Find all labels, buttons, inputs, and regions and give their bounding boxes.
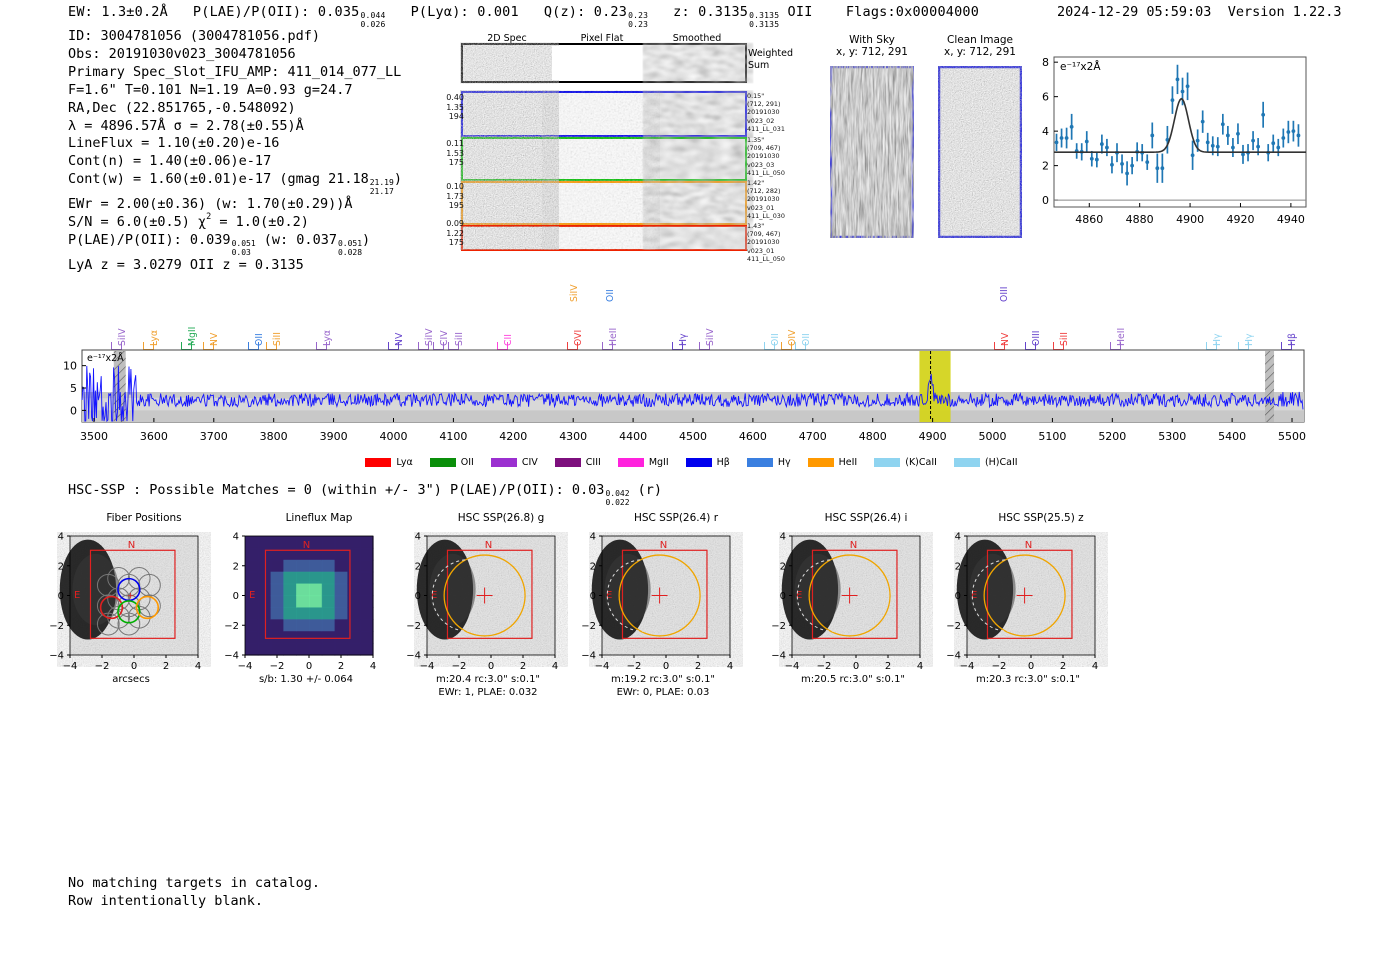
header-timestamp-version: 2024-12-29 05:59:03 Version 1.22.3 <box>1057 4 1342 20</box>
row3-seeing: 1.42" <box>747 179 785 187</box>
row3-amp: 411_LL_030 <box>747 212 785 220</box>
plae-value: 0.035 <box>318 4 360 20</box>
spectrum-units: e⁻¹⁷x2Å <box>87 352 124 364</box>
svg-text:−2: −2 <box>771 621 786 632</box>
row2-val1: 0.11 <box>432 139 464 149</box>
thumbnail-title: HSC SSP(26.8) g <box>425 512 577 524</box>
row4-val1: 0.09 <box>432 219 464 229</box>
svg-text:3800: 3800 <box>260 430 288 443</box>
info-primary-spec: Primary Spec_Slot_IFU_AMP: 411_014_077_L… <box>68 64 402 82</box>
compass-east: E <box>606 590 612 601</box>
legend-item: CIII <box>555 457 601 468</box>
compass-north: N <box>303 540 310 551</box>
row4-xy: (709, 467) <box>747 230 785 238</box>
row1-seeing: 0.15" <box>747 92 785 100</box>
legend-label: MgII <box>649 457 669 468</box>
svg-text:4: 4 <box>233 532 239 543</box>
hsc-summary-filter: (r) <box>638 482 662 498</box>
legend-item: Hγ <box>747 457 791 468</box>
legend-item: (K)CaII <box>874 457 937 468</box>
svg-text:−2: −2 <box>581 621 596 632</box>
thumbnail-caption-2: EWr: 1, PLAE: 0.032 <box>391 686 585 699</box>
compass-east: E <box>971 590 977 601</box>
legend-swatch <box>954 458 980 467</box>
legend-label: OII <box>461 457 474 468</box>
svg-text:2: 2 <box>163 661 169 672</box>
spec2d-row-left-labels-4: 0.09 1.22 175 <box>432 219 464 248</box>
svg-text:4000: 4000 <box>379 430 407 443</box>
row4-visit: v023_01 <box>747 247 785 255</box>
footer-note: No matching targets in catalog. Row inte… <box>68 874 320 910</box>
svg-text:4200: 4200 <box>499 430 527 443</box>
row1-val1: 0.40 <box>432 93 464 103</box>
svg-text:0: 0 <box>1042 194 1049 207</box>
line-profile-units: e⁻¹⁷x2Å <box>1060 60 1101 73</box>
svg-text:4: 4 <box>58 532 64 543</box>
row1-val2: 1.35 <box>432 103 464 113</box>
info-plae: P(LAE)/P(OII): 0.0390.0510.03 (w: 0.0370… <box>68 232 402 257</box>
hsc-summary-text: HSC-SSP : Possible Matches = 0 (within +… <box>68 482 604 498</box>
svg-text:−4: −4 <box>771 651 786 662</box>
svg-text:2: 2 <box>590 561 596 572</box>
svg-text:0: 0 <box>1028 661 1034 672</box>
svg-text:−2: −2 <box>406 621 421 632</box>
spec2d-row-right-labels-3: 1.42" (712, 282) 20191030 v023_01 411_LL… <box>747 179 785 220</box>
z-label: z: <box>673 4 690 20</box>
svg-text:0: 0 <box>590 591 596 602</box>
svg-text:6: 6 <box>1042 91 1049 104</box>
emission-line-label: OIII <box>999 286 1010 302</box>
spec2d-row-left-labels-2: 0.11 1.53 175 <box>432 139 464 168</box>
row1-amp: 411_LL_031 <box>747 125 785 133</box>
svg-text:0: 0 <box>955 591 961 602</box>
legend-item: OII <box>430 457 474 468</box>
svg-text:−2: −2 <box>270 661 285 672</box>
svg-text:−2: −2 <box>817 661 832 672</box>
svg-text:4: 4 <box>727 661 733 672</box>
svg-text:4: 4 <box>370 661 376 672</box>
legend-item: CIV <box>491 457 538 468</box>
line-profile-chart: 02468 48604880490049204940 e⁻¹⁷x2Å <box>1034 52 1314 242</box>
thumbnail-caption-1: m:19.2 rc:3.0" s:0.1" <box>566 673 760 686</box>
compass-east: E <box>796 590 802 601</box>
legend-swatch <box>430 458 456 467</box>
thumbnail-title: HSC SSP(26.4) r <box>600 512 752 524</box>
svg-text:4700: 4700 <box>799 430 827 443</box>
row1-xy: (712, 291) <box>747 100 785 108</box>
svg-text:0: 0 <box>131 661 137 672</box>
svg-text:5100: 5100 <box>1038 430 1066 443</box>
svg-text:0: 0 <box>853 661 859 672</box>
svg-text:2: 2 <box>1042 160 1049 173</box>
svg-text:−2: −2 <box>627 661 642 672</box>
legend-item: HeII <box>808 457 858 468</box>
svg-text:2: 2 <box>58 561 64 572</box>
svg-text:0: 0 <box>663 661 669 672</box>
row2-xy: (709, 467) <box>747 144 785 152</box>
svg-text:4300: 4300 <box>559 430 587 443</box>
timestamp: 2024-12-29 05:59:03 <box>1057 4 1211 20</box>
legend-swatch <box>874 458 900 467</box>
chi-squared-exponent: 2 <box>206 213 211 222</box>
plae-label: P(LAE)/P(OII): <box>193 4 310 20</box>
row4-seeing: 1.43" <box>747 222 785 230</box>
svg-text:−4: −4 <box>406 651 421 662</box>
svg-text:3700: 3700 <box>200 430 228 443</box>
row3-date: 20191030 <box>747 195 785 203</box>
row4-date: 20191030 <box>747 238 785 246</box>
legend-item: Lyα <box>365 457 412 468</box>
row3-visit: v023_01 <box>747 204 785 212</box>
flags-value: Flags:0x00004000 <box>846 4 979 20</box>
weighted-sum-line1: Weighted <box>748 48 793 60</box>
spec2d-row-right-labels-2: 1.35" (709, 467) 20191030 v023_03 411_LL… <box>747 136 785 177</box>
svg-text:4: 4 <box>552 661 558 672</box>
svg-text:0: 0 <box>488 661 494 672</box>
row4-val2: 1.22 <box>432 229 464 239</box>
spec2d-row-left-labels-3: 0.10 1.73 195 <box>432 182 464 211</box>
info-lambda-sigma: λ = 4896.57Å σ = 2.78(±0.55)Å <box>68 118 402 136</box>
compass-north: N <box>850 540 857 551</box>
svg-text:3900: 3900 <box>320 430 348 443</box>
svg-text:4: 4 <box>917 661 923 672</box>
hsc-summary-line: HSC-SSP : Possible Matches = 0 (within +… <box>68 482 662 507</box>
legend-swatch <box>747 458 773 467</box>
svg-text:2: 2 <box>885 661 891 672</box>
cutout-withsky-caption: With Sky x, y: 712, 291 <box>822 34 922 58</box>
clean-coords: x, y: 712, 291 <box>928 46 1032 58</box>
svg-text:0: 0 <box>70 404 77 417</box>
svg-text:2: 2 <box>695 661 701 672</box>
svg-text:−4: −4 <box>63 661 78 672</box>
svg-text:4900: 4900 <box>919 430 947 443</box>
svg-text:−4: −4 <box>238 661 253 672</box>
spectrum-legend: LyαOIICIVCIIIMgIIHβHγHeII(K)CaII(H)CaII <box>0 452 1400 471</box>
info-id: ID: 3004781056 (3004781056.pdf) <box>68 28 402 46</box>
compass-east: E <box>431 590 437 601</box>
svg-text:2: 2 <box>415 561 421 572</box>
header-summary-line: EW: 1.3±0.2Å P(LAE)/P(OII): 0.0350.0440.… <box>68 4 979 29</box>
svg-text:4940: 4940 <box>1277 213 1305 226</box>
svg-text:4600: 4600 <box>739 430 767 443</box>
cutout-clean-caption: Clean Image x, y: 712, 291 <box>928 34 1032 58</box>
legend-item: Hβ <box>686 457 730 468</box>
thumbnail-title: Fiber Positions <box>68 512 220 524</box>
chi2-value: = 1.0(±0.2) <box>211 214 309 230</box>
row1-visit: v023_02 <box>747 117 785 125</box>
info-redshifts: LyA z = 3.0279 OII z = 0.3135 <box>68 257 402 275</box>
thumbnail-caption-2: EWr: 0, PLAE: 0.03 <box>566 686 760 699</box>
legend-swatch <box>365 458 391 467</box>
row2-amp: 411_LL_050 <box>747 169 785 177</box>
row4-val3: 175 <box>432 238 464 248</box>
info-plae-lower: 0.03 <box>232 249 256 258</box>
svg-text:3600: 3600 <box>140 430 168 443</box>
svg-text:−4: −4 <box>49 651 64 662</box>
spec2d-row-right-labels-1: 0.15" (712, 291) 20191030 v023_02 411_LL… <box>747 92 785 133</box>
target-info-block: ID: 3004781056 (3004781056.pdf) Obs: 201… <box>68 28 402 275</box>
footer-line-2: Row intentionally blank. <box>68 892 320 910</box>
gmag-lower: 21.17 <box>370 188 394 197</box>
svg-text:−2: −2 <box>49 621 64 632</box>
plya-value: 0.001 <box>477 4 519 20</box>
compass-north: N <box>1025 540 1032 551</box>
spec2d-figure <box>460 42 760 252</box>
thumbnail-caption-1: m:20.3 rc:3.0" s:0.1" <box>931 673 1125 686</box>
row1-date: 20191030 <box>747 108 785 116</box>
emission-line-label: OII <box>605 289 616 302</box>
footer-line-1: No matching targets in catalog. <box>68 874 320 892</box>
plya-label: P(Lyα): <box>411 4 469 20</box>
svg-text:4920: 4920 <box>1226 213 1254 226</box>
info-plae-text: P(LAE)/P(OII): 0.039 <box>68 232 231 248</box>
legend-swatch <box>491 458 517 467</box>
svg-text:2: 2 <box>233 561 239 572</box>
row1-val3: 194 <box>432 112 464 122</box>
svg-text:4880: 4880 <box>1126 213 1154 226</box>
compass-east: E <box>74 590 80 601</box>
weighted-sum-line2: Sum <box>748 60 793 72</box>
weighted-sum-label: Weighted Sum <box>748 48 793 72</box>
clean-title: Clean Image <box>928 34 1032 46</box>
thumbnail-caption-1: arcsecs <box>34 673 228 686</box>
spec2d-row-left-labels-1: 0.40 1.35 194 <box>432 93 464 122</box>
svg-text:5: 5 <box>70 382 77 395</box>
legend-swatch <box>555 458 581 467</box>
svg-text:−4: −4 <box>595 661 610 672</box>
thumbnail-title: Lineflux Map <box>243 512 395 524</box>
svg-text:−4: −4 <box>581 651 596 662</box>
compass-north: N <box>660 540 667 551</box>
svg-text:2: 2 <box>780 561 786 572</box>
svg-text:0: 0 <box>233 591 239 602</box>
svg-text:4100: 4100 <box>439 430 467 443</box>
legend-label: CIV <box>522 457 538 468</box>
svg-text:5300: 5300 <box>1158 430 1186 443</box>
svg-text:−2: −2 <box>946 621 961 632</box>
thumbnail-caption-1: m:20.4 rc:3.0" s:0.1" <box>391 673 585 686</box>
row2-val3: 175 <box>432 158 464 168</box>
info-lineflux: LineFlux = 1.10(±0.20)e-16 <box>68 135 402 153</box>
legend-label: CIII <box>586 457 601 468</box>
svg-text:3500: 3500 <box>80 430 108 443</box>
svg-text:−4: −4 <box>420 661 435 672</box>
svg-text:−2: −2 <box>452 661 467 672</box>
z-species: OII <box>788 4 813 20</box>
info-cont-wide: Cont(w) = 1.60(±0.01)e-17 (gmag 21.1821.… <box>68 171 402 196</box>
info-radec: RA,Dec (22.851765,-0.548092) <box>68 100 402 118</box>
svg-text:−4: −4 <box>785 661 800 672</box>
z-value: 0.3135 <box>698 4 748 20</box>
legend-item: MgII <box>618 457 669 468</box>
row2-visit: v023_03 <box>747 161 785 169</box>
clean-image <box>938 66 1022 238</box>
ew-label: EW: <box>68 4 93 20</box>
svg-text:10: 10 <box>63 360 77 373</box>
svg-text:−2: −2 <box>992 661 1007 672</box>
info-obs: Obs: 20191030v023_3004781056 <box>68 46 402 64</box>
svg-text:+: + <box>127 592 135 602</box>
row2-val2: 1.53 <box>432 149 464 159</box>
legend-label: Hβ <box>717 457 730 468</box>
row3-xy: (712, 282) <box>747 187 785 195</box>
info-observing-conditions: F=1.6" T=0.101 N=1.19 A=0.93 g=24.7 <box>68 82 402 100</box>
legend-label: Lyα <box>396 457 412 468</box>
legend-label: HeII <box>839 457 858 468</box>
info-sn-chi2: S/N = 6.0(±0.5) χ2 = 1.0(±0.2) <box>68 214 402 232</box>
ew-value: 1.3±0.2Å <box>101 4 168 20</box>
cutout-panel-row: Fiber PositionsNE+−4−2024420−2−4arcsecsL… <box>0 512 1400 732</box>
version: Version 1.22.3 <box>1228 4 1342 20</box>
svg-text:0: 0 <box>58 591 64 602</box>
legend-item: (H)CaII <box>954 457 1018 468</box>
full-spectrum-chart: e⁻¹⁷x2Å 0510 350036003700380039004000410… <box>60 330 1320 450</box>
spec2d-row-right-labels-4: 1.43" (709, 467) 20191030 v023_01 411_LL… <box>747 222 785 263</box>
sn-text: S/N = 6.0(±0.5) χ <box>68 214 206 230</box>
svg-text:2: 2 <box>1060 661 1066 672</box>
svg-text:4: 4 <box>1092 661 1098 672</box>
svg-text:4860: 4860 <box>1075 213 1103 226</box>
svg-text:4: 4 <box>590 532 596 543</box>
qz-value: 0.23 <box>594 4 627 20</box>
hsc-plae-lower: 0.022 <box>605 499 629 508</box>
info-ewr: EWr = 2.00(±0.36) (w: 1.70(±0.29))Å <box>68 196 402 214</box>
svg-text:0: 0 <box>415 591 421 602</box>
svg-text:5000: 5000 <box>979 430 1007 443</box>
svg-text:5400: 5400 <box>1218 430 1246 443</box>
thumbnail-title: HSC SSP(25.5) z <box>965 512 1117 524</box>
svg-text:2: 2 <box>955 561 961 572</box>
compass-north: N <box>485 540 492 551</box>
svg-text:5500: 5500 <box>1278 430 1306 443</box>
compass-east: E <box>249 590 255 601</box>
svg-text:4900: 4900 <box>1176 213 1204 226</box>
svg-text:4: 4 <box>415 532 421 543</box>
svg-text:4: 4 <box>780 532 786 543</box>
row3-val2: 1.73 <box>432 192 464 202</box>
svg-text:−2: −2 <box>95 661 110 672</box>
legend-swatch <box>686 458 712 467</box>
svg-text:2: 2 <box>338 661 344 672</box>
compass-north: N <box>128 540 135 551</box>
row4-amp: 411_LL_050 <box>747 255 785 263</box>
thumbnail-caption-1: m:20.5 rc:3.0" s:0.1" <box>756 673 950 686</box>
svg-text:4: 4 <box>195 661 201 672</box>
svg-text:4400: 4400 <box>619 430 647 443</box>
z-lower: 0.3135 <box>749 21 779 30</box>
svg-text:2: 2 <box>520 661 526 672</box>
row2-seeing: 1.35" <box>747 136 785 144</box>
info-plae-w-text: (w: 0.037 <box>264 232 337 248</box>
row2-date: 20191030 <box>747 152 785 160</box>
svg-text:−4: −4 <box>946 651 961 662</box>
svg-text:5200: 5200 <box>1098 430 1126 443</box>
info-cont-narrow: Cont(n) = 1.40(±0.06)e-17 <box>68 153 402 171</box>
qz-label: Q(z): <box>544 4 586 20</box>
svg-text:−4: −4 <box>224 651 239 662</box>
withsky-image <box>830 66 914 238</box>
svg-text:8: 8 <box>1042 56 1049 69</box>
legend-swatch <box>808 458 834 467</box>
qz-lower: 0.23 <box>628 21 648 30</box>
svg-text:4800: 4800 <box>859 430 887 443</box>
info-plae-w-lower: 0.028 <box>338 249 362 258</box>
svg-text:4500: 4500 <box>679 430 707 443</box>
svg-text:0: 0 <box>306 661 312 672</box>
thumbnail-title: HSC SSP(26.4) i <box>790 512 942 524</box>
row3-val3: 195 <box>432 201 464 211</box>
legend-label: (K)CaII <box>905 457 937 468</box>
withsky-coords: x, y: 712, 291 <box>822 46 922 58</box>
svg-text:−4: −4 <box>960 661 975 672</box>
thumbnail-caption-1: s/b: 1.30 +/- 0.064 <box>209 673 403 686</box>
legend-swatch <box>618 458 644 467</box>
cont-wide-text: Cont(w) = 1.60(±0.01)e-17 (gmag 21.18 <box>68 171 369 187</box>
withsky-title: With Sky <box>822 34 922 46</box>
svg-text:0: 0 <box>780 591 786 602</box>
cont-wide-post: ) <box>394 171 402 187</box>
info-plae-post: ) <box>362 232 370 248</box>
legend-label: (H)CaII <box>985 457 1018 468</box>
svg-text:4: 4 <box>1042 125 1049 138</box>
emission-line-label: SiIV <box>569 284 580 302</box>
svg-text:−2: −2 <box>224 621 239 632</box>
svg-text:4: 4 <box>955 532 961 543</box>
row3-val1: 0.10 <box>432 182 464 192</box>
legend-label: Hγ <box>778 457 791 468</box>
